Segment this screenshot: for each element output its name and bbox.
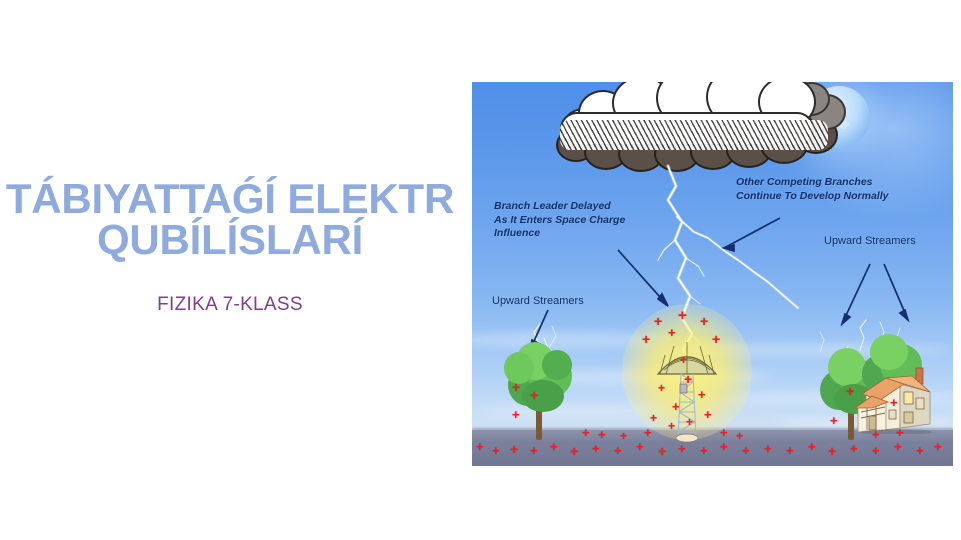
charge-plus: + [828,444,836,458]
charge-plus: + [672,400,680,413]
charge-plus: + [700,314,708,328]
charge-plus: + [712,332,720,346]
charge-plus: + [492,444,500,457]
charge-plus: + [476,440,484,453]
page-title: TÁBIYATTAǴÍ ELEKTR QUBÍLÍSLARÍ [0,178,480,260]
charge-plus: + [736,430,743,442]
lightning-diagram-image: + + + + + + + + + + + + + + + + + + + + … [472,82,953,466]
charge-plus: + [678,442,686,455]
charge-plus: + [614,444,622,457]
charge-plus: + [872,428,880,441]
charge-plus: + [720,440,728,453]
charge-plus: + [698,388,706,401]
page-title-line-2: QUBÍLÍSLARÍ [0,219,480,260]
charge-plus: + [720,426,728,439]
charge-plus: + [678,308,687,323]
charge-plus: + [592,442,600,455]
charge-plus: + [680,354,687,366]
charge-plus: + [512,408,520,421]
charge-plus: + [650,412,657,424]
tree-foliage [522,380,564,412]
charge-plus: + [700,444,708,457]
charge-plus: + [654,314,662,328]
charge-plus: + [890,396,898,409]
charge-plus: + [598,428,606,441]
charge-plus: + [742,444,750,457]
charge-plus: + [830,414,838,427]
annotation-branch-leader: Branch Leader Delayed As It Enters Space… [494,200,625,241]
charge-plus: + [846,384,854,398]
annotation-upward-streamers-right: Upward Streamers [824,234,916,248]
charge-plus: + [636,440,644,453]
charge-plus: + [786,444,794,457]
charge-plus: + [512,380,520,394]
charge-plus: + [510,442,518,456]
charge-plus: + [684,372,692,386]
charge-plus: + [808,440,816,453]
annotation-other-branches: Other Competing Branches Continue To Dev… [736,176,888,203]
charge-plus: + [620,430,627,442]
title-text-block: TÁBIYATTAǴÍ ELEKTR QUBÍLÍSLARÍ FIZIKA 7-… [0,178,480,316]
charge-plus: + [668,326,676,339]
charge-plus: + [704,408,712,421]
annotation-upward-streamers-left: Upward Streamers [492,294,584,308]
charge-plus: + [668,420,675,432]
charge-plus: + [658,444,666,458]
charge-plus: + [658,382,665,394]
page-subtitle: FIZIKA 7-KLASS [0,260,480,316]
presentation-slide: TÁBIYATTAǴÍ ELEKTR QUBÍLÍSLARÍ FIZIKA 7-… [0,0,961,540]
charge-plus: + [530,388,538,402]
charge-plus: + [644,426,652,439]
tree-foliage [542,350,572,380]
page-title-line-1: TÁBIYATTAǴÍ ELEKTR [0,178,480,219]
charge-plus: + [686,416,693,428]
charge-plus: + [642,332,650,346]
charge-plus: + [934,440,942,453]
charge-plus: + [570,444,578,458]
charge-plus: + [872,444,880,457]
charge-plus: + [894,440,902,453]
charge-plus: + [916,444,924,457]
charge-plus: + [582,426,590,439]
charge-plus: + [896,426,904,439]
charge-plus: + [850,442,858,455]
charge-plus: + [764,442,772,455]
charge-plus: + [530,444,538,457]
charge-plus: + [550,440,558,453]
